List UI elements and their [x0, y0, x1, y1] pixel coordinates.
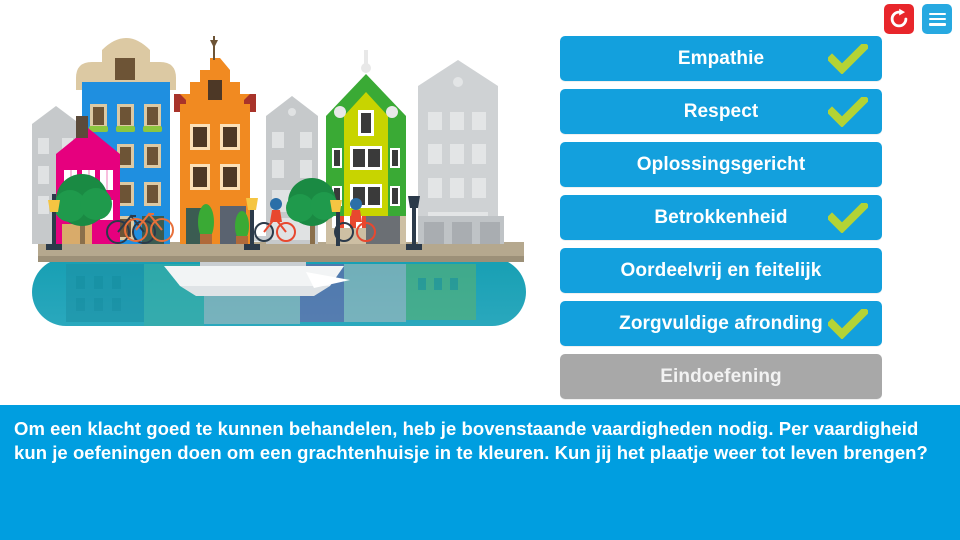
skill-button-respect[interactable]: Respect: [560, 89, 882, 134]
skill-label: Respect: [684, 101, 759, 123]
top-controls: [884, 4, 952, 34]
menu-button[interactable]: [922, 4, 952, 34]
canal-houses-svg: [14, 20, 544, 360]
skill-label: Betrokkenheid: [654, 207, 787, 229]
restart-icon: [888, 8, 910, 30]
skill-label: Oplossingsgericht: [637, 154, 806, 176]
checkmark-icon: [828, 203, 868, 233]
checkmark-icon: [828, 44, 868, 74]
canal-houses-illustration: [14, 20, 544, 360]
skill-button-oplossingsgericht[interactable]: Oplossingsgericht: [560, 142, 882, 187]
shrub-b: [235, 211, 249, 244]
checkmark-icon: [828, 309, 868, 339]
skill-label: Oordeelvrij en feitelijk: [621, 260, 822, 282]
skill-label: Empathie: [678, 48, 764, 70]
skill-button-oordeelvrij-en-feitelijk[interactable]: Oordeelvrij en feitelijk: [560, 248, 882, 293]
skill-label: Eindoefening: [660, 366, 782, 388]
instruction-banner: Om een klacht goed te kunnen behandelen,…: [0, 405, 960, 540]
checkmark-icon: [828, 97, 868, 127]
instruction-text: Om een klacht goed te kunnen behandelen,…: [0, 405, 960, 466]
skill-button-empathie[interactable]: Empathie: [560, 36, 882, 81]
skill-label: Zorgvuldige afronding: [619, 313, 823, 335]
restart-button[interactable]: [884, 4, 914, 34]
skill-button-betrokkenheid[interactable]: Betrokkenheid: [560, 195, 882, 240]
app-root: Empathie Respect Oplossingsgericht Betro…: [0, 0, 960, 540]
skills-list: Empathie Respect Oplossingsgericht Betro…: [560, 36, 882, 399]
grey-arcade: [418, 216, 504, 244]
skill-button-zorgvuldige-afronding[interactable]: Zorgvuldige afronding: [560, 301, 882, 346]
shrub-a: [198, 204, 214, 244]
skill-button-eindoefening[interactable]: Eindoefening: [560, 354, 882, 399]
hamburger-icon: [929, 13, 946, 26]
